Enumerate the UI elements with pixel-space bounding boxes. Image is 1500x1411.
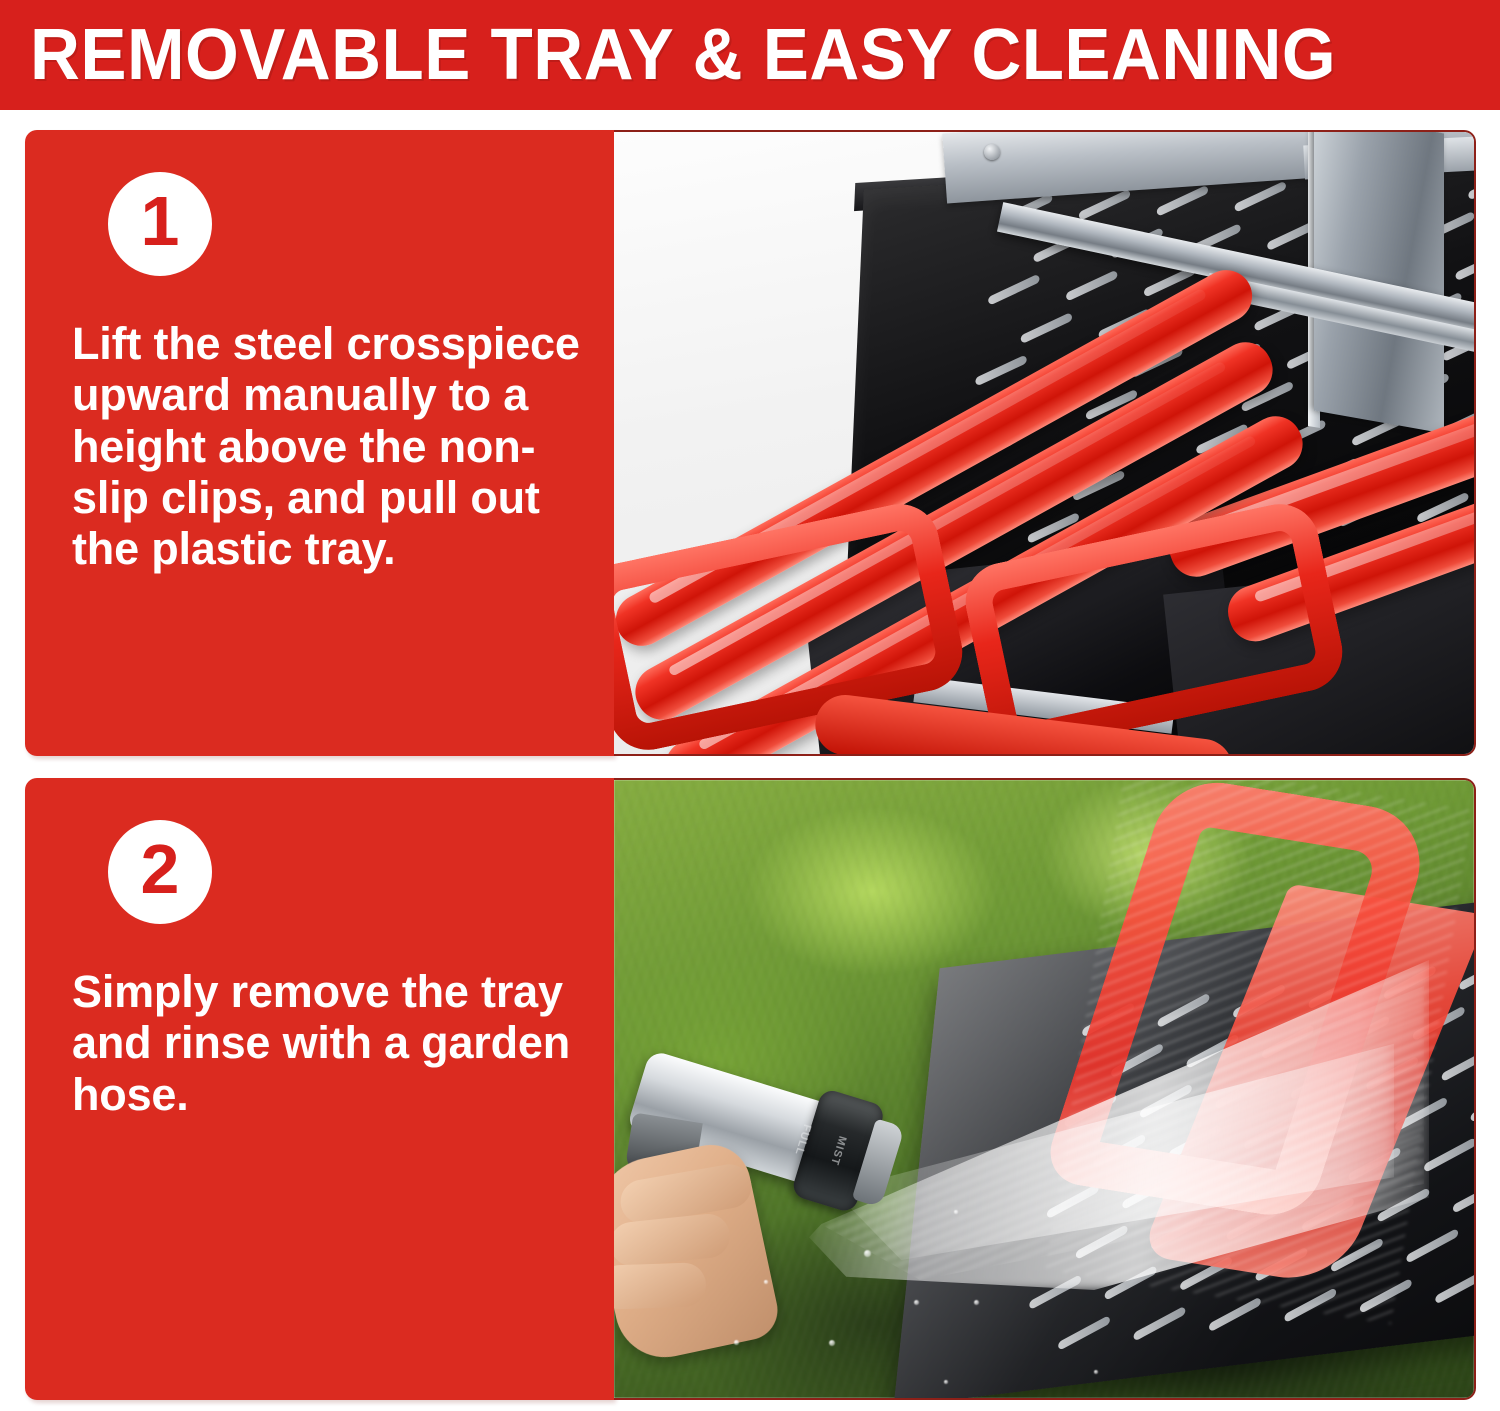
step-1-text-panel: 1 Lift the steel crosspiece upward manua…: [25, 130, 614, 756]
page-title: REMOVABLE TRAY & EASY CLEANING: [30, 19, 1336, 91]
step-2-number-badge: 2: [108, 820, 212, 924]
perforation-slot: [1455, 249, 1474, 281]
step-row-1: 1 Lift the steel crosspiece upward manua…: [25, 130, 1476, 756]
step-2-number: 2: [141, 834, 180, 904]
nozzle-label-mist: MIST: [828, 1134, 848, 1166]
step-1-number-badge: 1: [108, 172, 212, 276]
mounting-screw: [984, 144, 1000, 160]
infographic-root: REMOVABLE TRAY & EASY CLEANING 1 Lift th…: [0, 0, 1500, 1411]
step-1-photo: [614, 130, 1476, 756]
step-row-2: 2 Simply remove the tray and rinse with …: [25, 778, 1476, 1400]
step-1-photo-inner: [614, 132, 1474, 754]
step-1-number: 1: [141, 186, 180, 256]
perforation-slot: [987, 274, 1040, 306]
step-2-photo-inner: SHOWER MIST FULL: [614, 780, 1474, 1398]
perforation-slot: [1065, 270, 1118, 302]
perforation-slot: [1020, 312, 1073, 344]
header-banner: REMOVABLE TRAY & EASY CLEANING: [0, 0, 1500, 110]
step-2-text-panel: 2 Simply remove the tray and rinse with …: [25, 778, 614, 1400]
step-2-photo: SHOWER MIST FULL: [614, 778, 1476, 1400]
step-1-instruction: Lift the steel crosspiece upward manuall…: [72, 318, 586, 574]
step-2-instruction: Simply remove the tray and rinse with a …: [72, 966, 586, 1120]
finger-3: [614, 1262, 707, 1310]
nozzle-label-full: FULL: [792, 1123, 813, 1157]
